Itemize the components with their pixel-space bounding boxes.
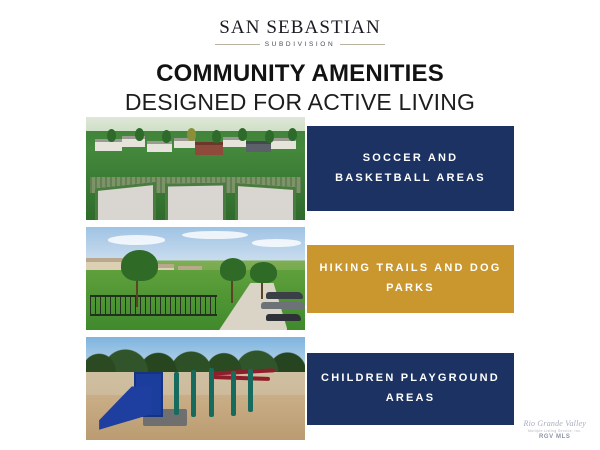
watermark-service-text: Multiple Listing Service, Inc. xyxy=(524,429,587,433)
dog-park-fence xyxy=(90,295,217,316)
court-1 xyxy=(95,182,156,220)
amenity-label-soccer-basketball: SOCCER AND BASKETBALL AREAS xyxy=(307,126,514,211)
aerial-sports-courts-render xyxy=(86,117,305,220)
watermark-mls-text: RGV MLS xyxy=(524,434,587,440)
slide-header: SAN SEBASTIAN SUBDIVISION COMMUNITY AMEN… xyxy=(0,0,600,115)
amenity-label-children-playground: CHILDREN PLAYGROUND AREAS xyxy=(307,353,514,425)
tree-line xyxy=(86,337,305,372)
list-item: CHILDREN PLAYGROUND AREAS xyxy=(86,337,514,440)
court-3 xyxy=(235,183,296,220)
brand-logo: SAN SEBASTIAN SUBDIVISION xyxy=(215,18,385,48)
list-item: SOCCER AND BASKETBALL AREAS xyxy=(86,117,514,220)
scene-park xyxy=(86,227,305,330)
logo-rule-right-divider xyxy=(340,44,385,45)
park-trail-dog-park-render xyxy=(86,227,305,330)
amenities-list: SOCCER AND BASKETBALL AREAS xyxy=(86,117,514,440)
brand-subtitle: SUBDIVISION xyxy=(265,41,336,48)
watermark-script-text: Rio Grande Valley xyxy=(524,419,587,428)
scene-playground xyxy=(86,337,305,440)
amenity-label-hiking-dog-parks: HIKING TRAILS AND DOG PARKS xyxy=(307,245,514,313)
amenity-label-text: CHILDREN PLAYGROUND AREAS xyxy=(317,369,504,408)
page-title: COMMUNITY AMENITIES DESIGNED FOR ACTIVE … xyxy=(0,61,600,115)
childrens-playground-photo xyxy=(86,337,305,440)
amenity-label-text: HIKING TRAILS AND DOG PARKS xyxy=(317,259,504,298)
brand-subtitle-row: SUBDIVISION xyxy=(215,41,385,48)
brand-name: SAN SEBASTIAN xyxy=(215,18,385,38)
house-cluster xyxy=(90,128,300,159)
amenity-label-text: SOCCER AND BASKETBALL AREAS xyxy=(317,149,504,188)
court-2 xyxy=(165,182,226,220)
logo-rule-left-divider xyxy=(215,44,260,45)
title-main: COMMUNITY AMENITIES xyxy=(0,61,600,88)
rgv-mls-watermark: Rio Grande Valley Multiple Listing Servi… xyxy=(524,419,587,440)
title-sub: DESIGNED FOR ACTIVE LIVING xyxy=(0,89,600,115)
scene-aerial xyxy=(86,117,305,220)
list-item: HIKING TRAILS AND DOG PARKS xyxy=(86,227,514,330)
